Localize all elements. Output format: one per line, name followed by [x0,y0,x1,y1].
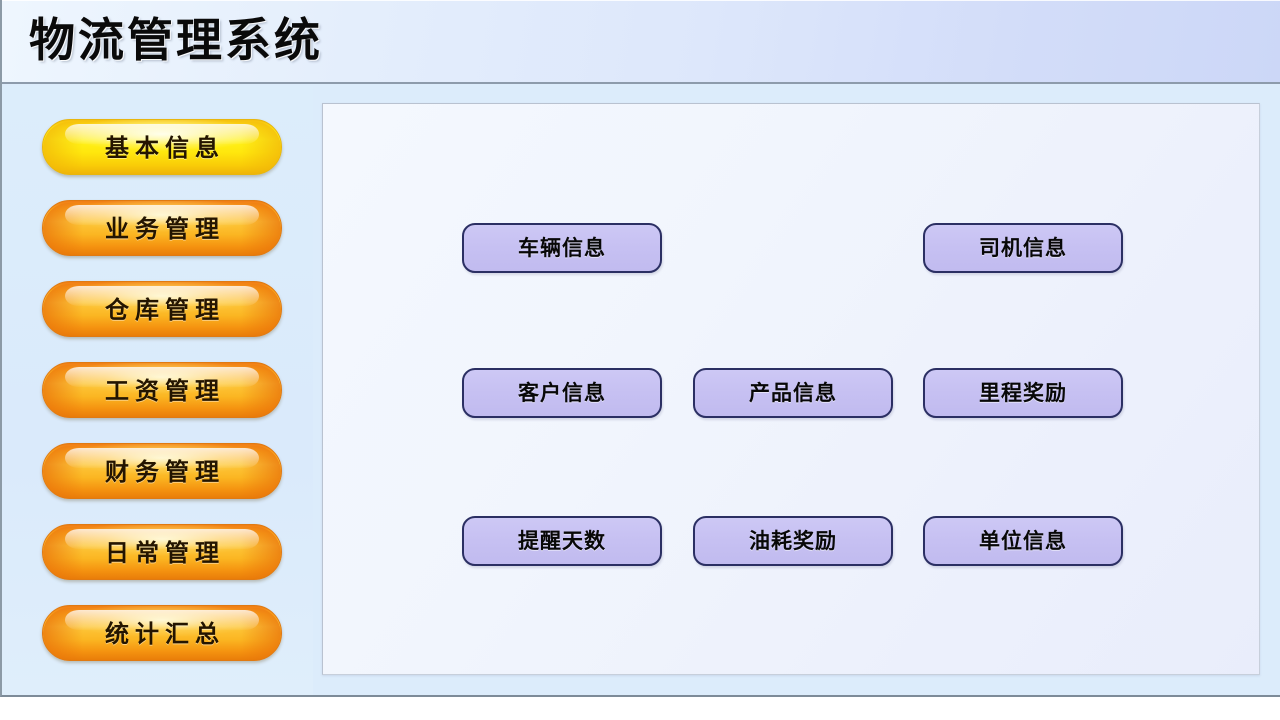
panel-button-label: 里程奖励 [925,370,1121,416]
content-panel: 车辆信息 司机信息 客户信息 产品信息 里程奖励 提醒天数 油耗奖励 [322,103,1260,675]
panel-button-fuel-reward[interactable]: 油耗奖励 [693,516,893,566]
panel-button-label: 车辆信息 [464,225,660,271]
sidebar-item-label: 业务管理 [43,201,281,256]
sidebar-item-label: 仓库管理 [43,282,281,337]
title-bar: 物流管理系统 [2,0,1280,84]
panel-button-reminder-days[interactable]: 提醒天数 [462,516,662,566]
panel-button-unit-info[interactable]: 单位信息 [923,516,1123,566]
sidebar-navigation: 基本信息 业务管理 仓库管理 工资管理 [2,86,313,695]
sidebar-item-label: 基本信息 [43,120,281,175]
sidebar-item-salary-management[interactable]: 工资管理 [42,362,282,418]
sidebar-item-finance-management[interactable]: 财务管理 [42,443,282,499]
panel-button-vehicle-info[interactable]: 车辆信息 [462,223,662,273]
sidebar-item-label: 统计汇总 [43,606,281,661]
sidebar-item-daily-management[interactable]: 日常管理 [42,524,282,580]
panel-button-product-info[interactable]: 产品信息 [693,368,893,418]
sidebar-item-basic-info[interactable]: 基本信息 [42,119,282,175]
panel-button-label: 客户信息 [464,370,660,416]
sidebar-item-business-management[interactable]: 业务管理 [42,200,282,256]
sidebar-item-statistics-summary[interactable]: 统计汇总 [42,605,282,661]
panel-button-mileage-reward[interactable]: 里程奖励 [923,368,1123,418]
panel-button-customer-info[interactable]: 客户信息 [462,368,662,418]
panel-button-label: 产品信息 [695,370,891,416]
sidebar-item-label: 日常管理 [43,525,281,580]
body-area: 基本信息 业务管理 仓库管理 工资管理 [2,86,1280,695]
sidebar-item-label: 工资管理 [43,363,281,418]
panel-button-label: 单位信息 [925,518,1121,564]
panel-button-label: 油耗奖励 [695,518,891,564]
panel-button-driver-info[interactable]: 司机信息 [923,223,1123,273]
application-window: 物流管理系统 基本信息 业务管理 仓库管理 [0,0,1280,697]
sidebar-item-warehouse-management[interactable]: 仓库管理 [42,281,282,337]
panel-button-label: 提醒天数 [464,518,660,564]
sidebar-item-label: 财务管理 [43,444,281,499]
page-title: 物流管理系统 [29,9,323,71]
panel-button-label: 司机信息 [925,225,1121,271]
